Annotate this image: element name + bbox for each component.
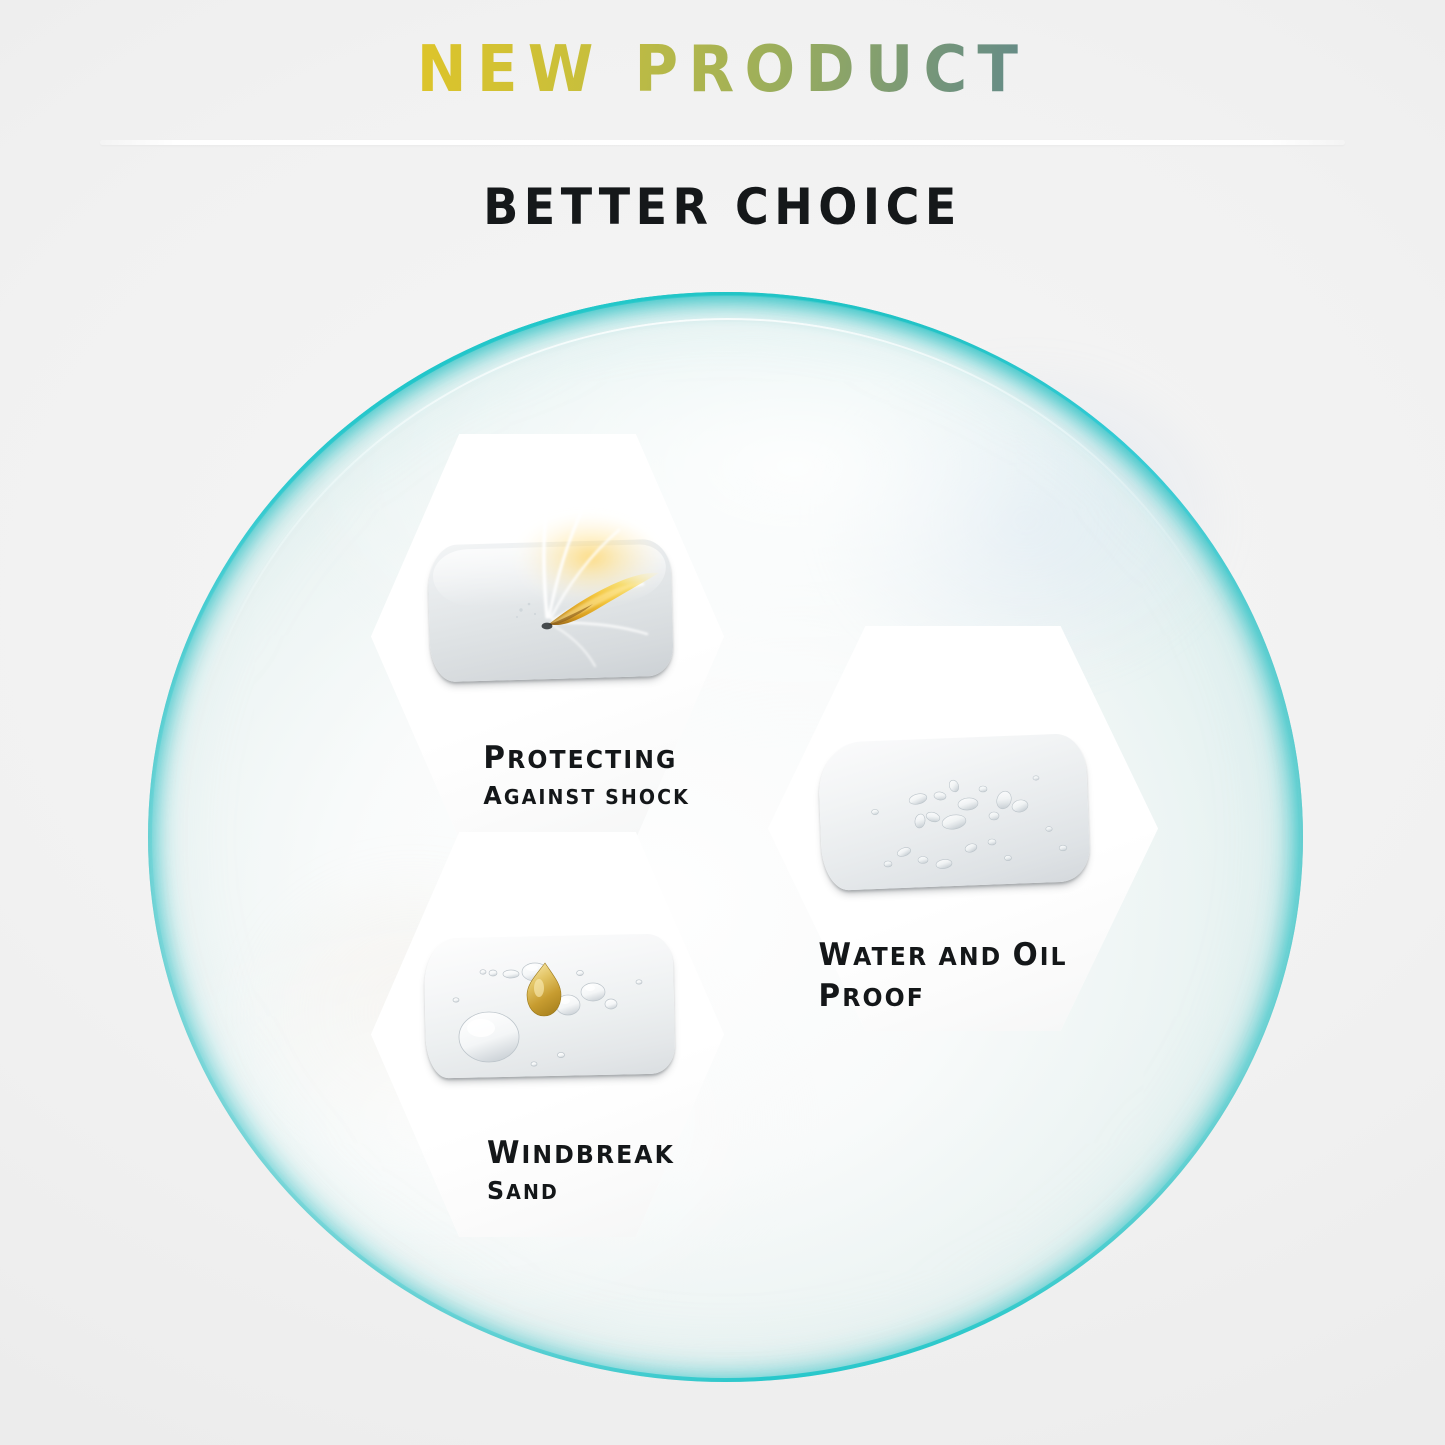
page-subtitle: BETTER CHOICE	[58, 178, 1387, 236]
page-title: NEW PRODUCT	[51, 38, 1395, 102]
lens-water-droplets-icon	[817, 733, 1090, 891]
lens-impact-spark-icon	[427, 539, 674, 683]
caption-line-2: SAND	[487, 1174, 675, 1207]
product-infographic-canvas: NEW PRODUCT BETTER CHOICE	[0, 0, 1445, 1445]
feature-caption-water-and-oil-proof: WATER AND OIL PROOF	[819, 935, 1068, 1017]
feature-caption-windbreak-sand: WINDBREAK SAND	[487, 1133, 675, 1207]
caption-line-1: WINDBREAK	[487, 1133, 675, 1174]
title-divider	[100, 140, 1345, 145]
feature-caption-protecting-against-shock: PROTECTING AGAINST SHOCK	[483, 738, 690, 812]
lens-beaded-droplet-icon	[424, 933, 676, 1078]
caption-line-2: PROOF	[819, 976, 1068, 1017]
caption-line-2: AGAINST SHOCK	[483, 779, 690, 812]
caption-line-1: WATER AND OIL	[819, 935, 1068, 976]
caption-line-1: PROTECTING	[483, 738, 690, 779]
